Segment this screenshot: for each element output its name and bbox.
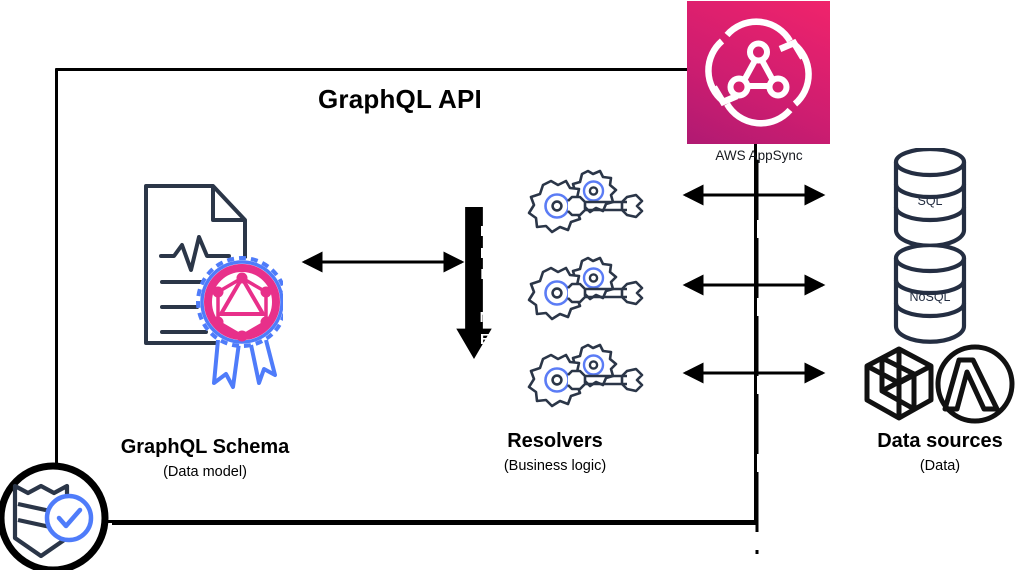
shield-check-icon	[0, 462, 114, 570]
schema-caption: GraphQL Schema (Data model)	[85, 436, 325, 482]
resolver-row-arrow-3	[676, 358, 836, 388]
lambda-icon	[935, 344, 1017, 424]
graphql-badge-icon	[198, 258, 283, 346]
resolver-row-arrow-1	[676, 180, 836, 210]
aws-appsync-tile[interactable]	[687, 1, 830, 144]
schema-title: GraphQL Schema	[85, 436, 325, 459]
resolver-gear-wrench-icon	[524, 160, 654, 238]
datasources-title: Data sources	[855, 430, 1021, 453]
resolvers-caption: Resolvers (Business logic)	[455, 430, 655, 476]
datasources-subtitle: (Data)	[855, 457, 1021, 476]
nosql-label: NoSQL	[895, 290, 965, 304]
aws-appsync-icon	[687, 1, 830, 144]
resolver-gear-wrench-icon	[524, 334, 654, 412]
pipeline-label: P I P E L I N E	[466, 178, 504, 350]
resolvers-title: Resolvers	[455, 430, 655, 453]
datasources-caption: Data sources (Data)	[855, 430, 1021, 476]
resolver-gear-wrench-icon	[524, 247, 654, 325]
schema-subtitle: (Data model)	[85, 463, 325, 482]
resolvers-subtitle: (Business logic)	[455, 457, 655, 476]
resolver-row-arrow-2	[676, 270, 836, 300]
cube-icon	[862, 345, 937, 423]
schema-pipeline-arrow	[290, 248, 475, 282]
diagram-canvas: GraphQL API AWS AppSync	[0, 0, 1021, 570]
graphql-schema-icon	[133, 180, 283, 400]
sql-label: SQL	[895, 194, 965, 208]
